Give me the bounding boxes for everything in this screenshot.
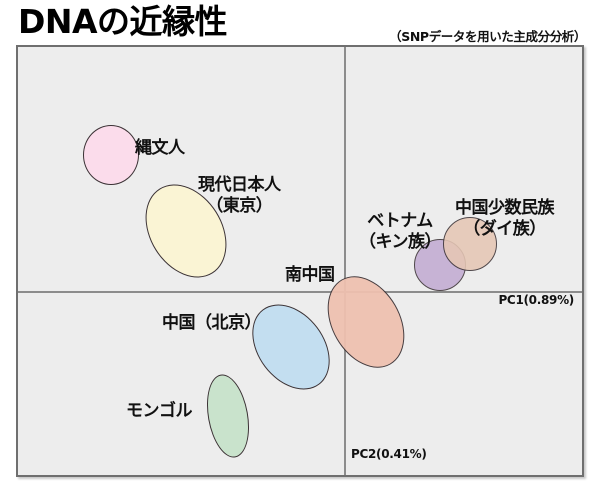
cluster-jomon[interactable]: [83, 125, 139, 185]
cluster-label-mongolia: モンゴル: [126, 401, 192, 422]
cluster-label-modern-japanese-line2: （東京）: [198, 196, 281, 217]
chart-subtitle: （SNPデータを用いた主成分分析）: [389, 26, 586, 45]
pc2-vertical-axis: [344, 47, 346, 475]
cluster-label-jomon-text: 縄文人: [135, 138, 185, 158]
cluster-label-modern-japanese-line1: 現代日本人: [198, 175, 281, 196]
cluster-label-mongolia-text: モンゴル: [126, 401, 192, 421]
cluster-label-china-beijing-text: 中国（北京）: [162, 313, 261, 333]
axis-label-pc2: PC2(0.41%): [351, 447, 427, 461]
cluster-label-china-minority-dai: 中国少数民族 （ダイ族）: [455, 198, 554, 240]
cluster-label-modern-japanese: 現代日本人 （東京）: [198, 175, 281, 217]
axis-label-pc1: PC1(0.89%): [498, 293, 574, 307]
cluster-label-china-beijing: 中国（北京）: [162, 313, 261, 334]
cluster-label-vietnam-kinh-line1: ベトナム: [359, 211, 441, 232]
cluster-label-jomon: 縄文人: [135, 138, 185, 159]
page-title: DNAの近縁性: [18, 2, 227, 42]
cluster-mongolia[interactable]: [201, 371, 255, 461]
cluster-label-vietnam-kinh: ベトナム （キン族）: [359, 211, 441, 253]
cluster-label-south-china: 南中国: [285, 265, 335, 286]
chart-plot-area: 縄文人 現代日本人 （東京） 中国（北京） 南中国 モンゴル ベトナム （キン族…: [16, 45, 584, 477]
cluster-label-vietnam-kinh-line2: （キン族）: [359, 232, 441, 253]
cluster-label-south-china-text: 南中国: [285, 265, 335, 285]
pc1-horizontal-axis: [18, 291, 582, 293]
cluster-label-china-minority-dai-line2: （ダイ族）: [455, 219, 554, 240]
cluster-label-china-minority-dai-line1: 中国少数民族: [455, 198, 554, 219]
